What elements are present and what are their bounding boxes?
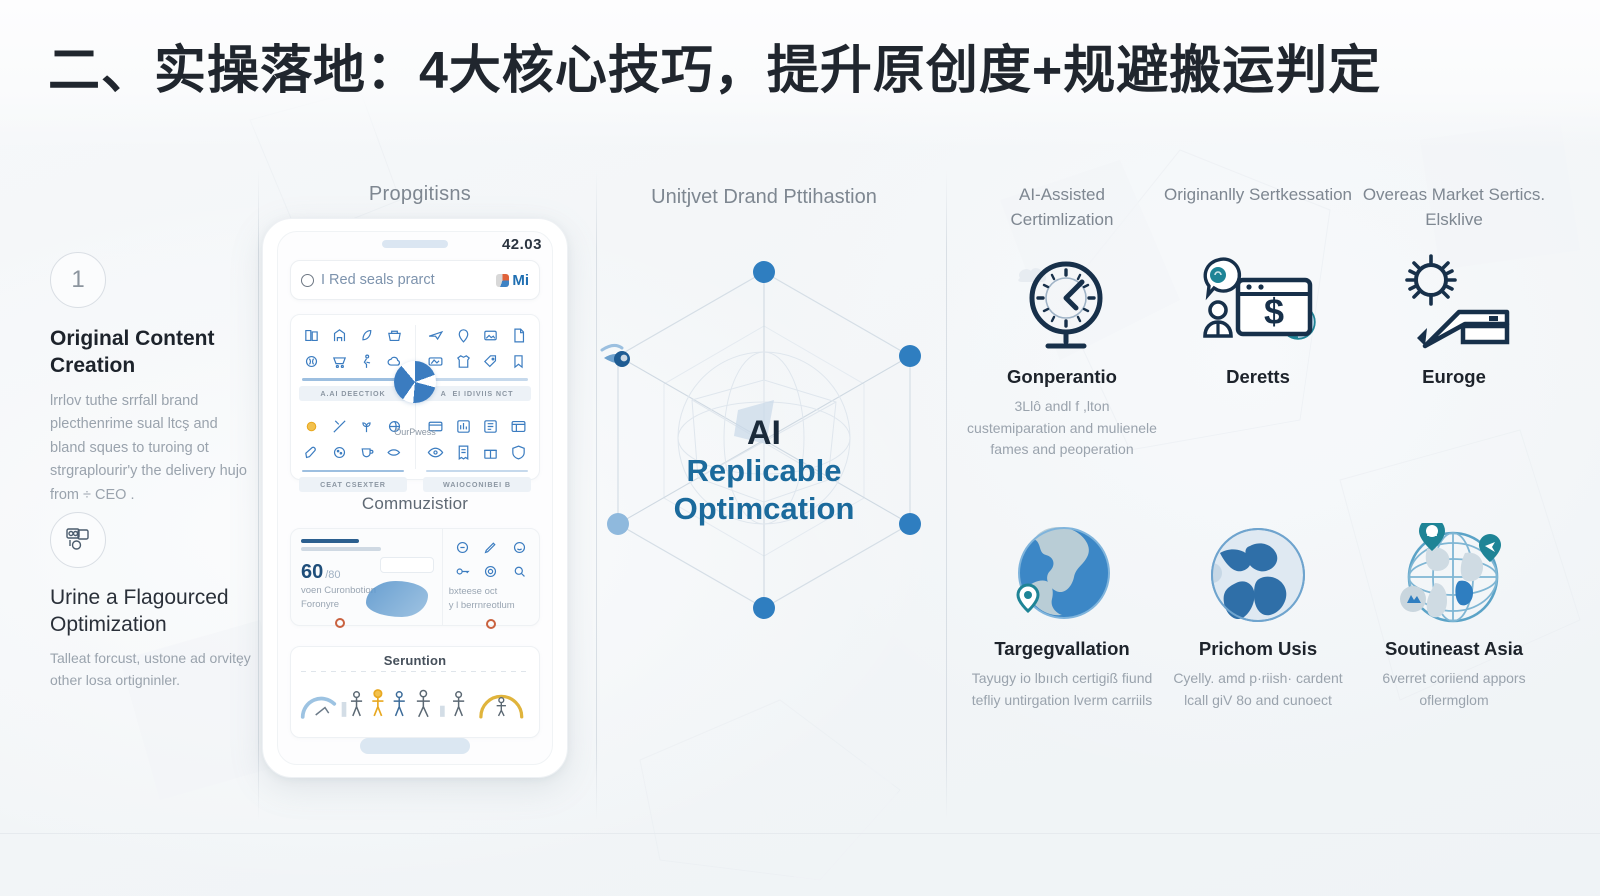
pin-icon [451,325,477,345]
stats-right: bxteese oct y l berrnreotlum [443,529,539,625]
svg-text:$: $ [1264,291,1284,332]
right-card-4-title: Targegvallation [966,638,1158,660]
coin-icon [449,537,476,557]
home-indicator [360,738,470,754]
tag-icon [478,351,504,371]
building-icon [327,325,353,345]
phone-notch [382,240,448,248]
left-feature-1-body: lrrlov tuthe srrfall brand plecthenrime … [50,390,255,507]
plane-icon [423,325,449,345]
tools-icon [327,417,353,437]
phone-section-label: Commuzistior [278,494,552,514]
right-card-6-body: 6verret coriiend appors oflermglom [1358,668,1550,711]
tooltip-pill [380,557,434,573]
chart-icon [451,417,477,437]
badge-number: 1 [71,266,84,294]
right-card-5-body: Cyelly. amd p·riish· cardent lcall giV 8… [1162,668,1354,711]
core-line-2: Optimcation [614,490,914,528]
divider-bottom [0,833,1600,834]
map-blob-graphic [366,581,428,617]
quadrant-1-caption: A.AI DEECTIOK [299,386,407,401]
quadrant-4-bar [426,470,528,473]
right-card-4-body: Tayugy io lbııch certigiß fiund tefliy u… [966,668,1158,711]
hexagon-diagram: AI Replicable Optimcation [588,240,940,680]
quadrant-4-icons [423,417,531,463]
globe-atlantic-icon [1162,524,1354,632]
slide-root: 二、实操落地：4大核心技巧，提升原创度+规避搬运判定 1 Original Co… [0,0,1600,896]
core-line-1: Replicable [614,452,914,490]
quadrant-1-icons [299,325,407,371]
magnify-icon [506,561,533,581]
right-header-2: Originanlly Sertkessation [1162,183,1354,208]
key-icon [449,561,476,581]
pie-label: OurPwess [394,427,436,437]
bottom-panel-label: Seruntion [291,653,539,668]
right-card-2[interactable]: $ Deretts [1162,252,1354,396]
stats-left: 60/80 voen Curonbotion Foronyre [291,529,443,625]
image-icon [478,325,504,345]
number-one-badge: 1 [50,252,106,308]
brain-icon [299,351,325,371]
status-time: 42.03 [502,236,542,253]
quadrant-2-bar [426,378,528,381]
plant-icon [354,417,380,437]
progress-bar-track [301,547,381,551]
search-value: I Red seals prarct [321,272,489,288]
stat-suffix: /80 [325,569,340,581]
progress-bar-filled [301,539,359,543]
sun-card-icon [1358,252,1550,360]
quadrant-2-caption: A EI IDIVIIS NCT [423,386,531,401]
stat-number: 60 [301,561,323,583]
chart-card-icon [50,512,106,568]
window-icon [506,417,532,437]
right-card-5-title: Prichom Usis [1162,638,1354,660]
left-feature-1: 1 Original Content Creation lrrlov tuthe… [50,252,255,507]
bottom-panel: Seruntion [290,646,540,738]
left-feature-2-body: Talleat forcust, ustone ad orvitęy other… [50,647,265,692]
hexagon-core-label: AI Replicable Optimcation [614,416,914,528]
cup-icon [354,443,380,463]
right-header-3: Overeas Market Sertics. Elsklive [1358,183,1550,232]
status-dot-right [486,619,496,629]
sun-food-icon [299,417,325,437]
list-icon [478,417,504,437]
divider-left [258,170,259,820]
brand-badge: Mi [496,272,529,289]
stat-right-line-2: y l berrnreotlum [449,599,533,613]
right-card-6[interactable]: Soutineast Asia 6verret coriiend appors … [1358,524,1550,711]
grid-quadrant-4[interactable]: WAIOCONIBEI B [415,407,539,499]
pie-chart-icon [394,361,436,403]
document-icon [506,325,532,345]
left-feature-1-title: Original Content Creation [50,326,255,380]
shirt-icon [451,351,477,371]
left-feature-2-title: Urine a Flagourced Optimization [50,584,265,639]
right-card-6-title: Soutineast Asia [1358,638,1550,660]
clock-globe-icon [966,252,1158,360]
right-card-1-body: 3Llô andl f ,lton custemiparation and mu… [966,396,1158,461]
bookmark-icon [506,351,532,371]
gift-icon [478,443,504,463]
phone-screen: 42.03 I Red seals prarct Mi OurPwess [277,231,553,765]
eye-icon [423,443,449,463]
target-icon [477,561,504,581]
grid-quadrant-3[interactable]: CEAT CSEXTER [291,407,415,499]
quadrant-4-caption: WAIOCONIBEI B [423,477,531,492]
right-card-1-title: Gonperantio [966,366,1158,388]
rocket-icon [299,443,325,463]
right-card-2-title: Deretts [1162,366,1354,388]
quadrant-1-bar [302,378,404,381]
fish-icon [382,443,408,463]
quadrant-3-bar [302,470,404,473]
category-grid: OurPwess A.AI DEECTIOK [290,314,540,480]
right-card-5[interactable]: Prichom Usis Cyelly. amd p·riish· carden… [1162,524,1354,711]
hexagon-header: Unitjvet Drand Pttihastion [646,183,882,211]
smile-icon [506,537,533,557]
search-icon [301,274,314,287]
stats-right-icons [449,537,533,581]
quadrant-3-icons [299,417,407,463]
core-ai-text: AI [614,416,914,450]
phone-caption: Propgitisns [300,183,540,206]
cart-icon [327,351,353,371]
left-feature-2: Urine a Flagourced Optimization Talleat … [50,512,265,691]
right-card-1[interactable]: Gonperantio 3Llô andl f ,lton custemipar… [966,252,1158,461]
right-header-1: AI-Assisted Certimlization [966,183,1158,232]
right-card-3-title: Euroge [1358,366,1550,388]
quadrant-3-caption: CEAT CSEXTER [299,477,407,492]
globe-pins-icon [1358,524,1550,632]
page-title: 二、实操落地：4大核心技巧，提升原创度+规避搬运判定 [48,42,1568,102]
pen-icon [477,537,504,557]
person-run-icon [354,351,380,371]
grid-quadrant-2[interactable]: A EI IDIVIIS NCT [415,315,539,407]
brand-logo-icon [496,274,509,287]
quadrant-2-icons [423,325,531,371]
brand-label: Mi [512,272,529,289]
dashed-divider [301,671,529,672]
search-input[interactable]: I Red seals prarct Mi [290,260,540,300]
globe-americas-icon [966,524,1158,632]
cookie-icon [327,443,353,463]
right-card-3[interactable]: Euroge [1358,252,1550,396]
leaf-icon [354,325,380,345]
right-card-4[interactable]: Targegvallation Tayugy io lbııch certigi… [966,524,1158,711]
book-icon [299,325,325,345]
shield-icon [506,443,532,463]
basket-icon [382,325,408,345]
people-illustration [291,678,539,724]
stat-right-line-1: bxteese oct [449,585,533,599]
phone-mockup: 42.03 I Red seals prarct Mi OurPwess [262,218,568,778]
receipt-icon [451,443,477,463]
stats-panel: 60/80 voen Curonbotion Foronyre [290,528,540,626]
status-dot-left [335,618,345,628]
divider-right [946,170,947,820]
browser-dollar-icon: $ [1162,252,1354,360]
